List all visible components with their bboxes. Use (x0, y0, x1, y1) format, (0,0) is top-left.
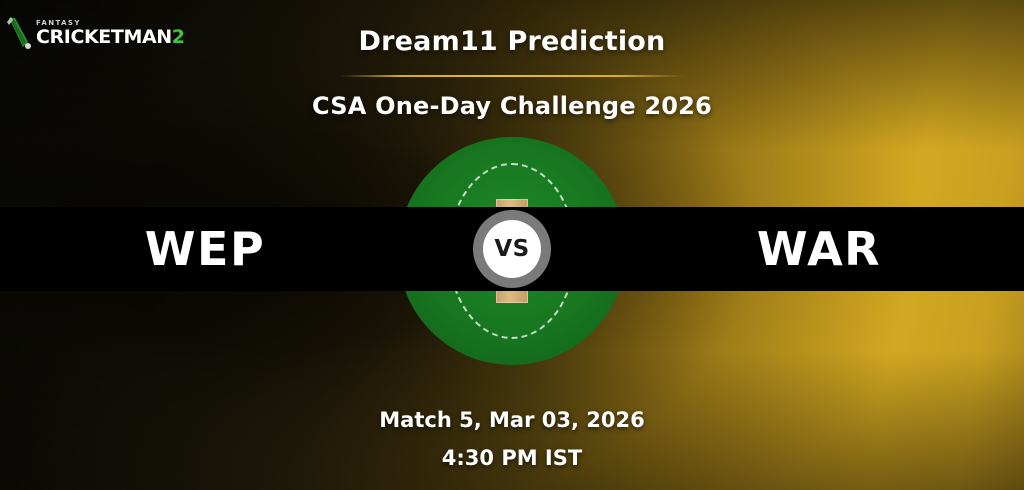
vs-label: VS (483, 220, 541, 278)
page-title: Dream11 Prediction (0, 26, 1024, 57)
match-preview-poster: FANTASY CRICKETMAN2 Dream11 Prediction C… (0, 0, 1024, 490)
team-left-name: WEP (60, 207, 350, 291)
vs-badge: VS (473, 210, 551, 288)
team-right-name: WAR (674, 207, 964, 291)
match-info: Match 5, Mar 03, 2026 (0, 408, 1024, 432)
title-divider (340, 75, 684, 77)
tournament-subtitle: CSA One-Day Challenge 2026 (0, 92, 1024, 120)
match-time: 4:30 PM IST (0, 446, 1024, 470)
